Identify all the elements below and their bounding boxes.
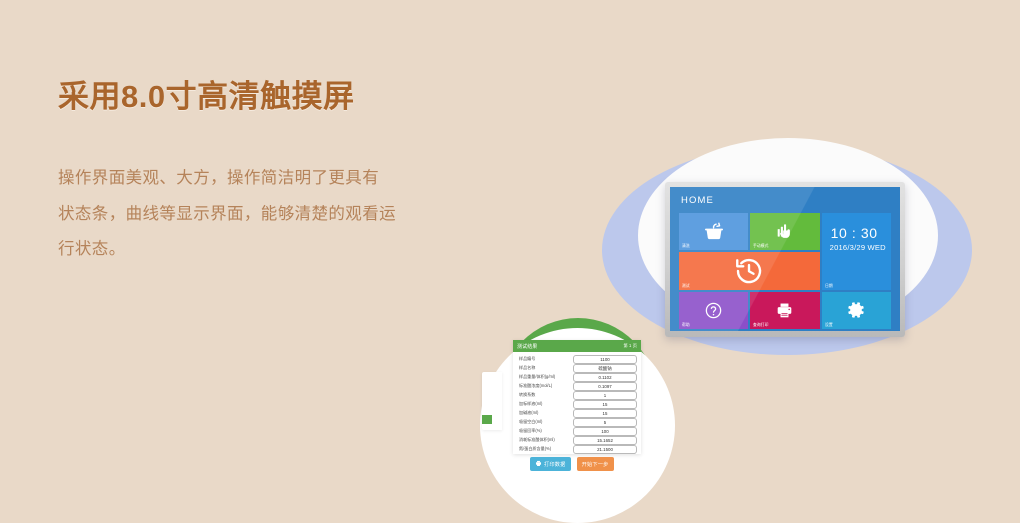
description-line: 行状态。 xyxy=(58,232,488,267)
result-value[interactable]: 21.1500 xyxy=(573,445,637,454)
results-panel-header: 测试结果 第 1 页 xyxy=(513,340,641,352)
result-label: 氮/蛋白质含量(%) xyxy=(517,446,573,452)
page-title: 采用8.0寸高清触摸屏 xyxy=(58,78,488,115)
description-line: 状态条，曲线等显示界面，能够清楚的观看运 xyxy=(58,197,488,232)
result-value[interactable]: 15 xyxy=(573,400,637,409)
result-label: 标准酸浓度(mol/L) xyxy=(517,383,573,389)
clock-time: 10 : 30 xyxy=(831,226,878,240)
results-panel-title: 测试结果 xyxy=(517,343,537,350)
result-label: 样品重量/体积(g/ml) xyxy=(517,374,573,380)
adjacent-screen-header-sliver xyxy=(482,415,492,424)
result-row: 吸留回率(%) 100 xyxy=(517,427,637,435)
description-line: 操作界面美观、大方，操作简洁明了更具有 xyxy=(58,161,488,196)
results-row-list: 样品编号 1100 样品名称 硫酸钠 样品重量/体积(g/ml) 0.1102 … xyxy=(513,352,641,454)
product-illustration: HOME 清洗 xyxy=(470,0,1020,520)
clock-date: 2016/3/29 WED xyxy=(830,244,886,252)
result-value[interactable]: 0.1097 xyxy=(573,382,637,391)
result-label: 样品名称 xyxy=(517,365,573,371)
feature-text-block: 采用8.0寸高清触摸屏 操作界面美观、大方，操作简洁明了更具有 状态条，曲线等显… xyxy=(58,78,488,268)
result-label: 吸留回率(%) xyxy=(517,428,573,434)
tile-caption: 日期 xyxy=(825,284,833,288)
printer-icon xyxy=(775,301,794,320)
tile-caption: 设置 xyxy=(825,323,833,327)
start-next-button-label: 开始下一步 xyxy=(582,461,609,468)
question-circle-icon xyxy=(704,301,723,320)
history-clock-icon xyxy=(734,256,764,286)
result-value[interactable]: 1 xyxy=(573,391,637,400)
result-row: 转换系数 1 xyxy=(517,391,637,399)
tile-manual-mode[interactable]: 手动模式 xyxy=(750,213,819,250)
result-label: 加标样液(ml) xyxy=(517,401,573,407)
result-label: 样品编号 xyxy=(517,356,573,362)
result-row: 吸留空白(ml) 5 xyxy=(517,418,637,426)
result-row: 氮/蛋白质含量(%) 21.1500 xyxy=(517,445,637,453)
result-row: 消耗标准酸体积(ml) 15.1652 xyxy=(517,436,637,444)
feature-description: 操作界面美观、大方，操作简洁明了更具有 状态条，曲线等显示界面，能够清楚的观看运… xyxy=(58,161,488,267)
result-value[interactable]: 0.1102 xyxy=(573,373,637,382)
tile-caption: 手动模式 xyxy=(753,245,769,249)
bar-chart-hand-icon xyxy=(775,222,794,241)
results-panel: 测试结果 第 1 页 样品编号 1100 样品名称 硫酸钠 样品重量/体积(g/… xyxy=(513,340,641,454)
result-row: 样品重量/体积(g/ml) 0.1102 xyxy=(517,373,637,381)
result-label: 加碱液(ml) xyxy=(517,410,573,416)
tile-help[interactable]: 帮助 xyxy=(679,292,748,329)
wash-basket-icon xyxy=(704,222,724,242)
result-value[interactable]: 15.1652 xyxy=(573,436,637,445)
tile-clock-date[interactable]: 10 : 30 2016/3/29 WED 日期 xyxy=(822,213,891,290)
result-value[interactable]: 100 xyxy=(573,427,637,436)
touchscreen-device: HOME 清洗 xyxy=(665,182,905,337)
tile-caption: 查询打印 xyxy=(753,323,769,327)
print-data-button-label: 打印数据 xyxy=(544,461,566,468)
start-next-button[interactable]: 开始下一步 xyxy=(577,457,614,471)
tile-caption: 清洗 xyxy=(682,245,690,249)
tile-query-print[interactable]: 查询打印 xyxy=(750,292,819,329)
result-value[interactable]: 1100 xyxy=(573,355,637,364)
result-row: 加标样液(ml) 15 xyxy=(517,400,637,408)
results-panel-page: 第 1 页 xyxy=(623,343,637,349)
tile-settings[interactable]: 设置 xyxy=(822,292,891,329)
result-row: 样品名称 硫酸钠 xyxy=(517,364,637,372)
printer-icon xyxy=(535,460,542,469)
print-data-button[interactable]: 打印数据 xyxy=(530,457,571,471)
result-row: 标准酸浓度(mol/L) 0.1097 xyxy=(517,382,637,390)
result-label: 消耗标准酸体积(ml) xyxy=(517,437,573,443)
home-tile-grid: 清洗 手动模式 10 : 30 xyxy=(679,213,891,329)
result-row: 加碱液(ml) 15 xyxy=(517,409,637,417)
results-action-bar: 打印数据 开始下一步 xyxy=(530,457,650,471)
result-label: 转换系数 xyxy=(517,392,573,398)
result-value[interactable]: 15 xyxy=(573,409,637,418)
result-label: 吸留空白(ml) xyxy=(517,419,573,425)
tile-caption: 测试 xyxy=(682,284,690,288)
result-row: 样品编号 1100 xyxy=(517,355,637,363)
result-value[interactable]: 5 xyxy=(573,418,637,427)
tile-wash[interactable]: 清洗 xyxy=(679,213,748,250)
device-screen: HOME 清洗 xyxy=(670,187,900,331)
gear-icon xyxy=(846,300,866,320)
tile-caption: 帮助 xyxy=(682,323,690,327)
home-screen-label: HOME xyxy=(681,195,714,206)
result-value[interactable]: 硫酸钠 xyxy=(573,364,637,373)
tile-test[interactable]: 测试 xyxy=(679,252,820,289)
